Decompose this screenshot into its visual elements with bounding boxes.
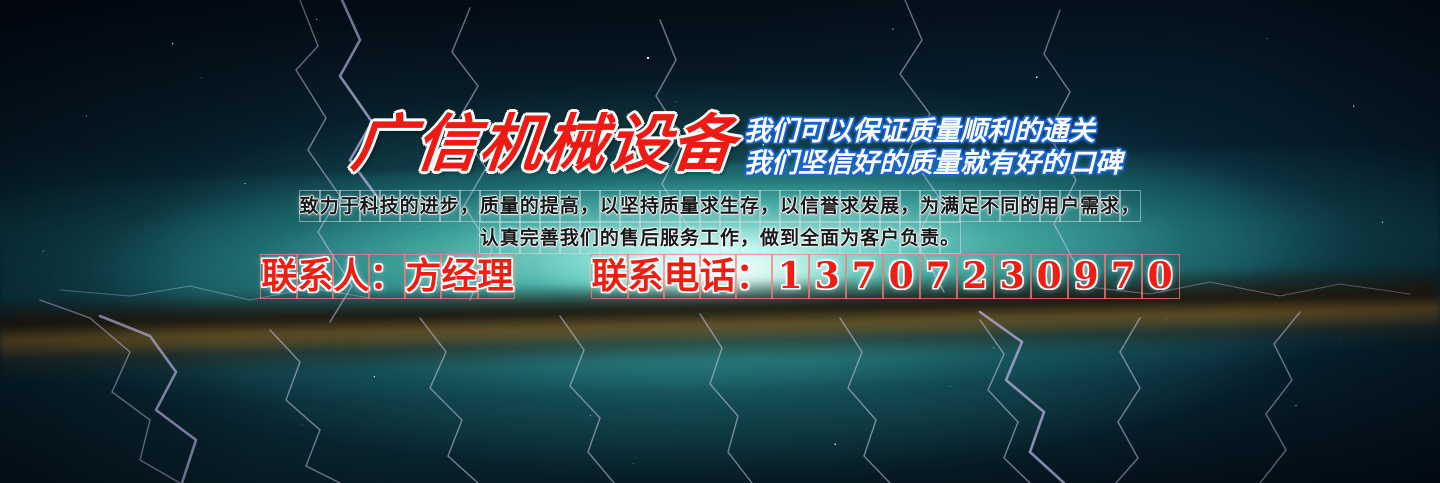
text-gap [540, 275, 566, 293]
glyph-cell: 进 [419, 190, 441, 222]
glyph-cell: 我 [559, 222, 581, 254]
glyph-cell: 求 [699, 190, 721, 222]
glyph-cell: 认 [479, 222, 501, 254]
contact-line[interactable]: 联系人：方经理 联系电话：13707230970 [0, 254, 1440, 299]
glyph-cell: ， [579, 190, 601, 222]
description-line-2: 认真完善我们的售后服务工作，做到全面为客户负责。 [0, 222, 1440, 254]
glyph-cell: 高 [559, 190, 581, 222]
glyph-cell: 后 [639, 222, 661, 254]
glyph-cell: 完 [519, 222, 541, 254]
glyph-cell: 为 [839, 222, 861, 254]
glyph-cell: ， [739, 222, 761, 254]
glyph-cell: 工 [699, 222, 721, 254]
glyph-cell: 理 [477, 254, 515, 299]
glyph-cell: 用 [1039, 190, 1061, 222]
glyph-cell: 客 [859, 222, 881, 254]
banner-content: 广信机械设备 我们可以保证质量顺利的通关 我们坚信好的质量就有好的口碑 致力于科… [0, 0, 1440, 483]
glyph-cell: 的 [519, 190, 541, 222]
glyph-cell: 户 [1059, 190, 1081, 222]
glyph-cell: 以 [779, 190, 801, 222]
glyph-cell: 质 [659, 190, 681, 222]
glyph-cell: 系 [627, 254, 665, 299]
text-gap [566, 275, 592, 293]
glyph-cell: 们 [579, 222, 601, 254]
glyph-cell: 0 [1030, 254, 1069, 299]
glyph-cell: 作 [719, 222, 741, 254]
glyph-cell: 售 [619, 222, 641, 254]
glyph-cell: ， [759, 190, 781, 222]
glyph-cell: 1 [771, 254, 810, 299]
glyph-cell: 方 [404, 254, 442, 299]
glyph-cell: 量 [499, 190, 521, 222]
glyph-cell: 面 [819, 222, 841, 254]
glyph-cell: 科 [359, 190, 381, 222]
glyph-cell: 7 [1104, 254, 1143, 299]
glyph-cell: 步 [439, 190, 461, 222]
glyph-cell: 做 [759, 222, 781, 254]
text-gap [514, 275, 540, 293]
glyph-cell: 善 [539, 222, 561, 254]
glyph-cell: ， [899, 190, 921, 222]
slogan-group: 我们可以保证质量顺利的通关 我们坚信好的质量就有好的口碑 [744, 116, 1122, 179]
glyph-cell: 7 [919, 254, 958, 299]
glyph-cell: 技 [379, 190, 401, 222]
glyph-cell: 不 [979, 190, 1001, 222]
glyph-cell: 为 [919, 190, 941, 222]
glyph-cell: 责 [919, 222, 941, 254]
slogan-line-1: 我们可以保证质量顺利的通关 [744, 116, 1122, 147]
glyph-cell: 致 [299, 190, 321, 222]
glyph-cell: 全 [799, 222, 821, 254]
glyph-cell: 人 [332, 254, 370, 299]
glyph-cell: 坚 [619, 190, 641, 222]
glyph-cell: 联 [260, 254, 298, 299]
glyph-cell: 量 [679, 190, 701, 222]
glyph-cell: 负 [899, 222, 921, 254]
glyph-cell: 服 [659, 222, 681, 254]
glyph-cell: 话 [699, 254, 737, 299]
glyph-cell: 足 [959, 190, 981, 222]
glyph-cell: 的 [599, 222, 621, 254]
glyph-cell: 发 [859, 190, 881, 222]
glyph-cell: 真 [499, 222, 521, 254]
glyph-cell: 求 [839, 190, 861, 222]
slogan-line-2: 我们坚信好的质量就有好的口碑 [744, 148, 1122, 179]
glyph-cell: 提 [539, 190, 561, 222]
glyph-cell: ， [1119, 190, 1141, 222]
glyph-cell: ： [735, 254, 773, 299]
glyph-cell: 誉 [819, 190, 841, 222]
glyph-cell: 务 [679, 222, 701, 254]
glyph-cell: 以 [599, 190, 621, 222]
glyph-cell: 系 [296, 254, 334, 299]
company-title: 广信机械设备 [348, 108, 740, 180]
glyph-cell: 持 [639, 190, 661, 222]
glyph-cell: 。 [939, 222, 961, 254]
hero-banner: 广信机械设备 我们可以保证质量顺利的通关 我们坚信好的质量就有好的口碑 致力于科… [0, 0, 1440, 483]
glyph-cell: 到 [779, 222, 801, 254]
glyph-cell: 电 [663, 254, 701, 299]
glyph-cell: 满 [939, 190, 961, 222]
glyph-cell: ， [459, 190, 481, 222]
glyph-cell: 经 [440, 254, 478, 299]
title-row: 广信机械设备 我们可以保证质量顺利的通关 我们坚信好的质量就有好的口碑 [352, 108, 1122, 180]
glyph-cell: 0 [882, 254, 921, 299]
description-line-1: 致力于科技的进步，质量的提高，以坚持质量求生存，以信誉求发展，为满足不同的用户需… [0, 190, 1440, 222]
glyph-cell: 户 [879, 222, 901, 254]
glyph-cell: 信 [799, 190, 821, 222]
glyph-cell: 需 [1079, 190, 1101, 222]
glyph-cell: 0 [1141, 254, 1180, 299]
description-block: 致力于科技的进步，质量的提高，以坚持质量求生存，以信誉求发展，为满足不同的用户需… [0, 190, 1440, 254]
glyph-cell: 的 [1019, 190, 1041, 222]
glyph-cell: 展 [879, 190, 901, 222]
glyph-cell: 2 [956, 254, 995, 299]
glyph-cell: 求 [1099, 190, 1121, 222]
glyph-cell: ： [368, 254, 406, 299]
glyph-cell: 联 [591, 254, 629, 299]
glyph-cell: 9 [1067, 254, 1106, 299]
glyph-cell: 7 [845, 254, 884, 299]
glyph-cell: 生 [719, 190, 741, 222]
glyph-cell: 力 [319, 190, 341, 222]
glyph-cell: 存 [739, 190, 761, 222]
glyph-cell: 于 [339, 190, 361, 222]
glyph-cell: 质 [479, 190, 501, 222]
glyph-cell: 的 [399, 190, 421, 222]
glyph-cell: 3 [808, 254, 847, 299]
glyph-cell: 3 [993, 254, 1032, 299]
glyph-cell: 同 [999, 190, 1021, 222]
